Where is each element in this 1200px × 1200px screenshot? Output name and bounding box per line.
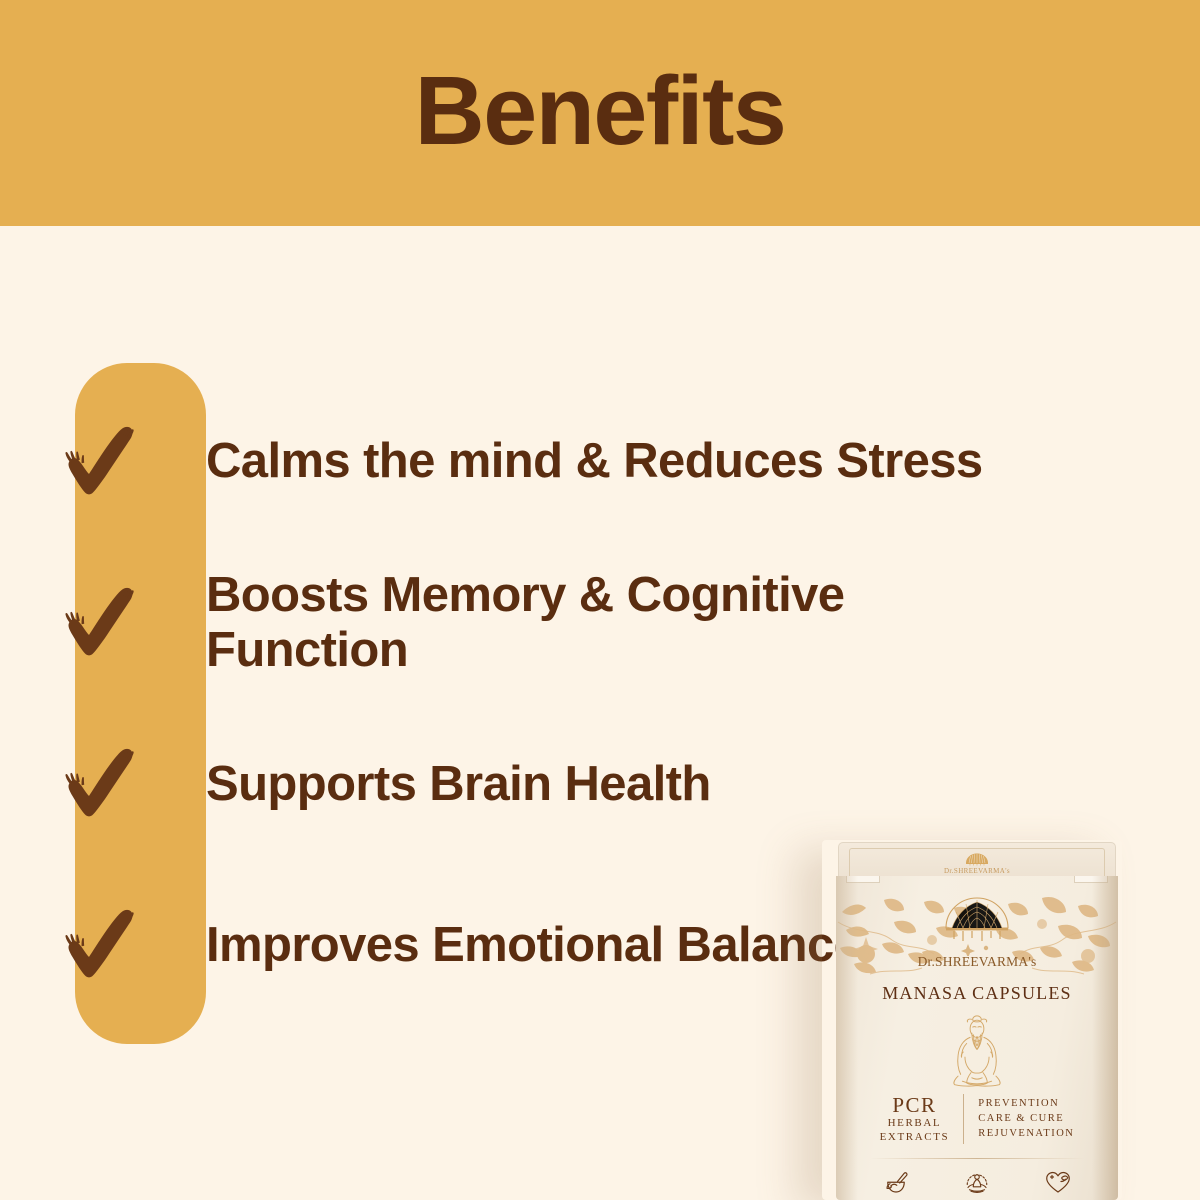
brush-check-icon [60,746,146,822]
heart-leaf-icon [1043,1168,1073,1198]
certification-row: SIDDHA AYURVEDA [856,1168,1098,1200]
pcr-acronym: PCR [880,1094,950,1116]
page-title: Benefits [415,62,786,165]
pcr-rejuvenation: REJUVENATION [978,1127,1074,1142]
box-top-inner-border: Dr.SHREEVARMA's [849,848,1105,878]
product-name: MANASA CAPSULES [836,983,1118,1004]
pcr-care-cure: CARE & CURE [978,1112,1074,1127]
pcr-block: PCR HERBAL EXTRACTS PREVENTION CARE & CU… [854,1094,1100,1144]
list-item: Calms the mind & Reduces Stress [0,402,1200,522]
brush-check-icon [60,585,146,661]
header-band: Benefits [0,0,1200,226]
list-item-label: Boosts Memory & Cognitive Function [206,568,1166,678]
certification-siddha: SIDDHA [859,1168,933,1200]
product-packshot: Dr.SHREEVARMA's [812,818,1132,1200]
meditating-sage-icon [934,1009,1020,1095]
check-cell [0,907,206,983]
pcr-extracts: EXTRACTS [880,1130,950,1144]
pcr-herbal: HERBAL [880,1116,950,1130]
list-item: Boosts Memory & Cognitive Function [0,563,1200,683]
mortar-pestle-icon [881,1168,911,1198]
meditating-figure-icon [962,1168,992,1198]
certification-naturopathy: NATUROPATHY [1021,1168,1095,1200]
certification-ayurveda: AYURVEDA [940,1168,1014,1200]
list-item-label: Calms the mind & Reduces Stress [206,434,1156,489]
pcr-prevention: PREVENTION [978,1097,1074,1112]
list-item-label: Supports Brain Health [206,757,1156,812]
divider-line [870,1158,1084,1159]
check-cell [0,746,206,822]
dome-logo-icon [938,894,1016,956]
box-front-face: Dr.SHREEVARMA's MANASA CAPSULES [836,876,1118,1200]
check-cell [0,424,206,500]
product-brand: Dr.SHREEVARMA's [918,954,1037,970]
dome-logo-icon [962,852,992,866]
pcr-left: PCR HERBAL EXTRACTS [880,1094,964,1144]
brand-lockup: Dr.SHREEVARMA's [836,894,1118,970]
box-top-brand: Dr.SHREEVARMA's [944,867,1010,875]
box-right-shading [1092,876,1118,1200]
brush-check-icon [60,424,146,500]
sage-illustration-wrap [836,1009,1118,1095]
benefits-page: Benefits Calms the mind & Reduc [0,0,1200,1200]
brush-check-icon [60,907,146,983]
pcr-meaning: PREVENTION CARE & CURE REJUVENATION [964,1097,1074,1142]
box-left-shading [836,876,858,1200]
check-cell [0,585,206,661]
box-top-flap: Dr.SHREEVARMA's [838,842,1116,878]
